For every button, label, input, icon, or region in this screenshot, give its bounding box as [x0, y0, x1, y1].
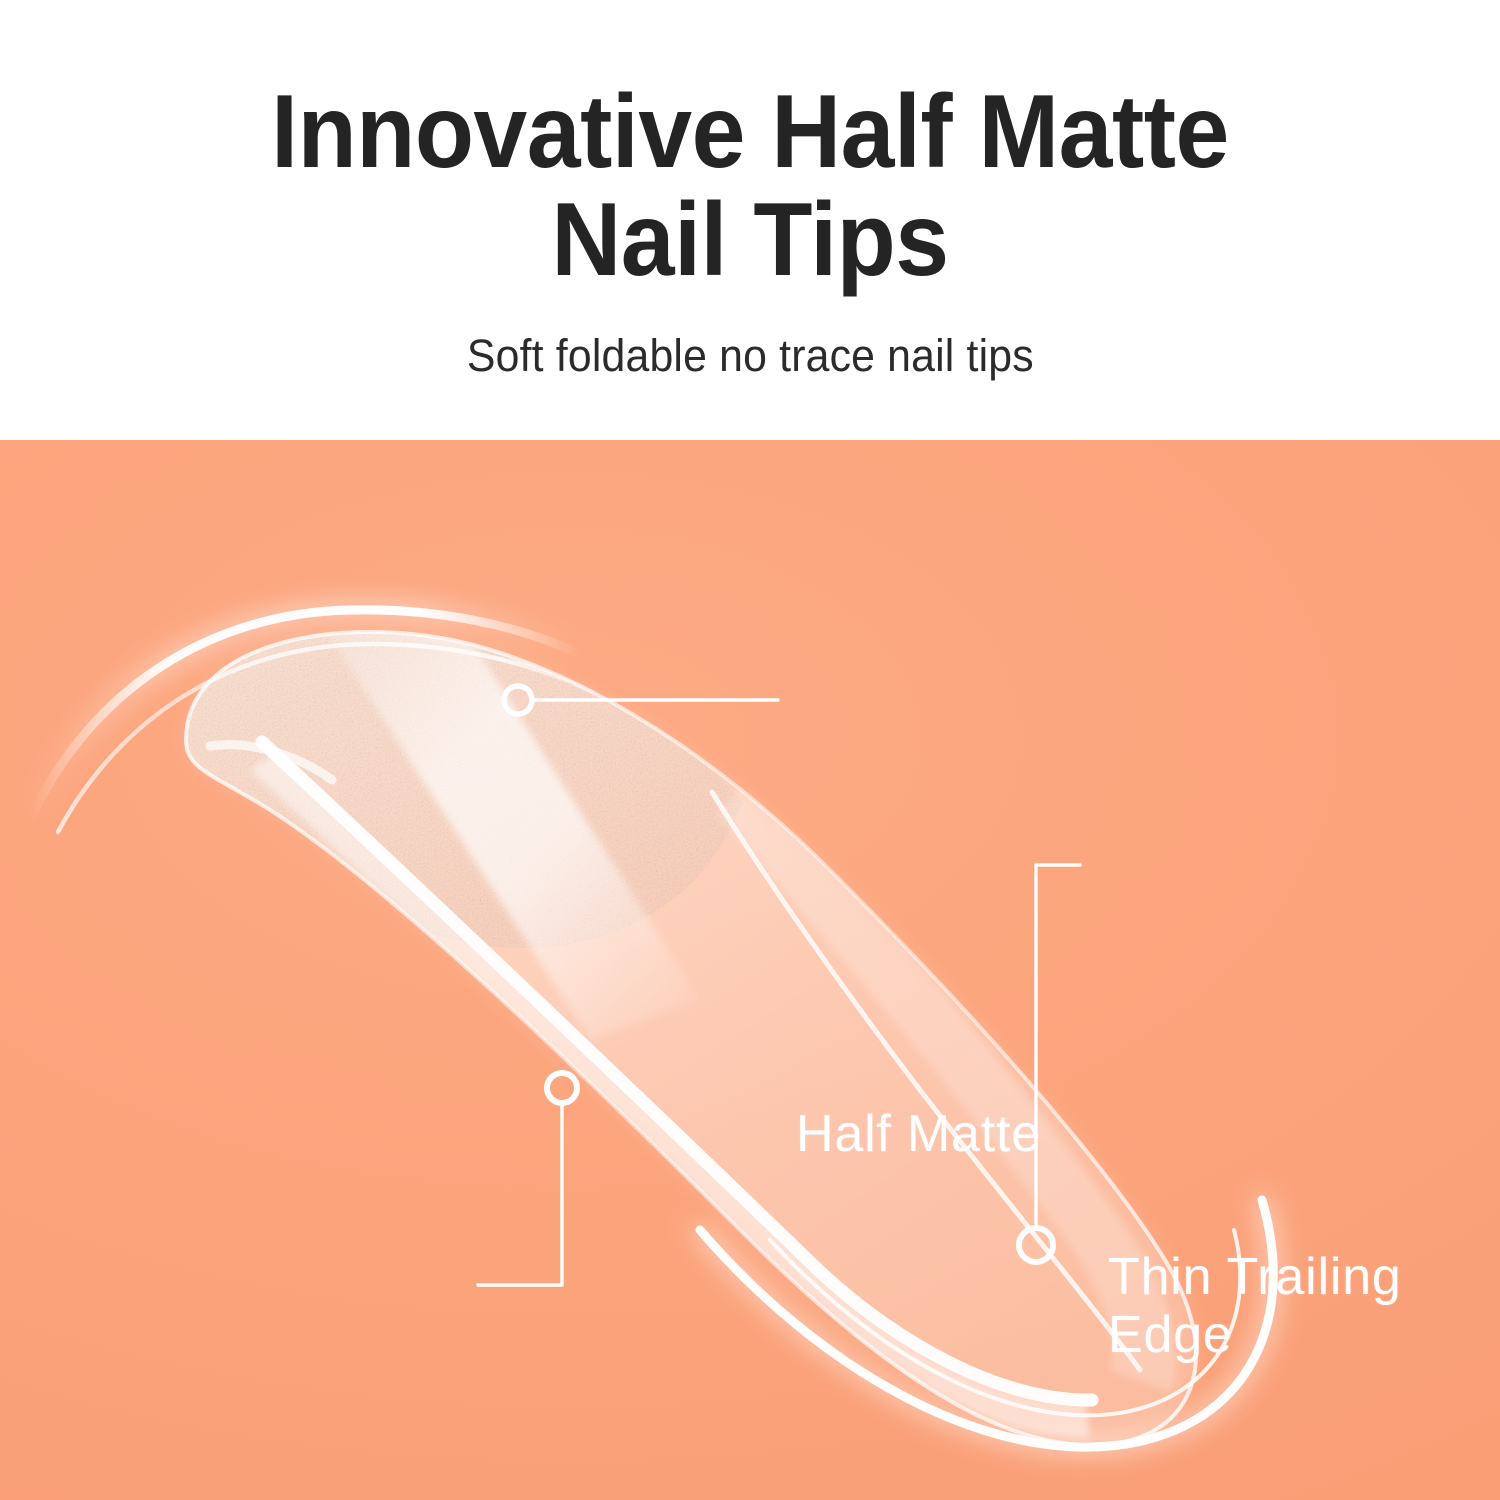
callout-marker-no-crease: [547, 1073, 577, 1103]
callout-label-half-matte: Half Matte: [796, 1105, 1041, 1163]
page-title: Innovative Half Matte Nail Tips: [164, 78, 1336, 294]
callout-label-thin-trailing-edge: Thin Trailing Edge: [1108, 1248, 1402, 1364]
product-illustration-panel: Half Matte Thin Trailing Edge No Crease: [0, 440, 1500, 1500]
callout-leader-no-crease: [478, 1073, 577, 1285]
page-subtitle: Soft foldable no trace nail tips: [467, 330, 1034, 382]
product-feature-graphic: Innovative Half Matte Nail Tips Soft fol…: [0, 0, 1500, 1500]
header-band: Innovative Half Matte Nail Tips Soft fol…: [0, 0, 1500, 440]
